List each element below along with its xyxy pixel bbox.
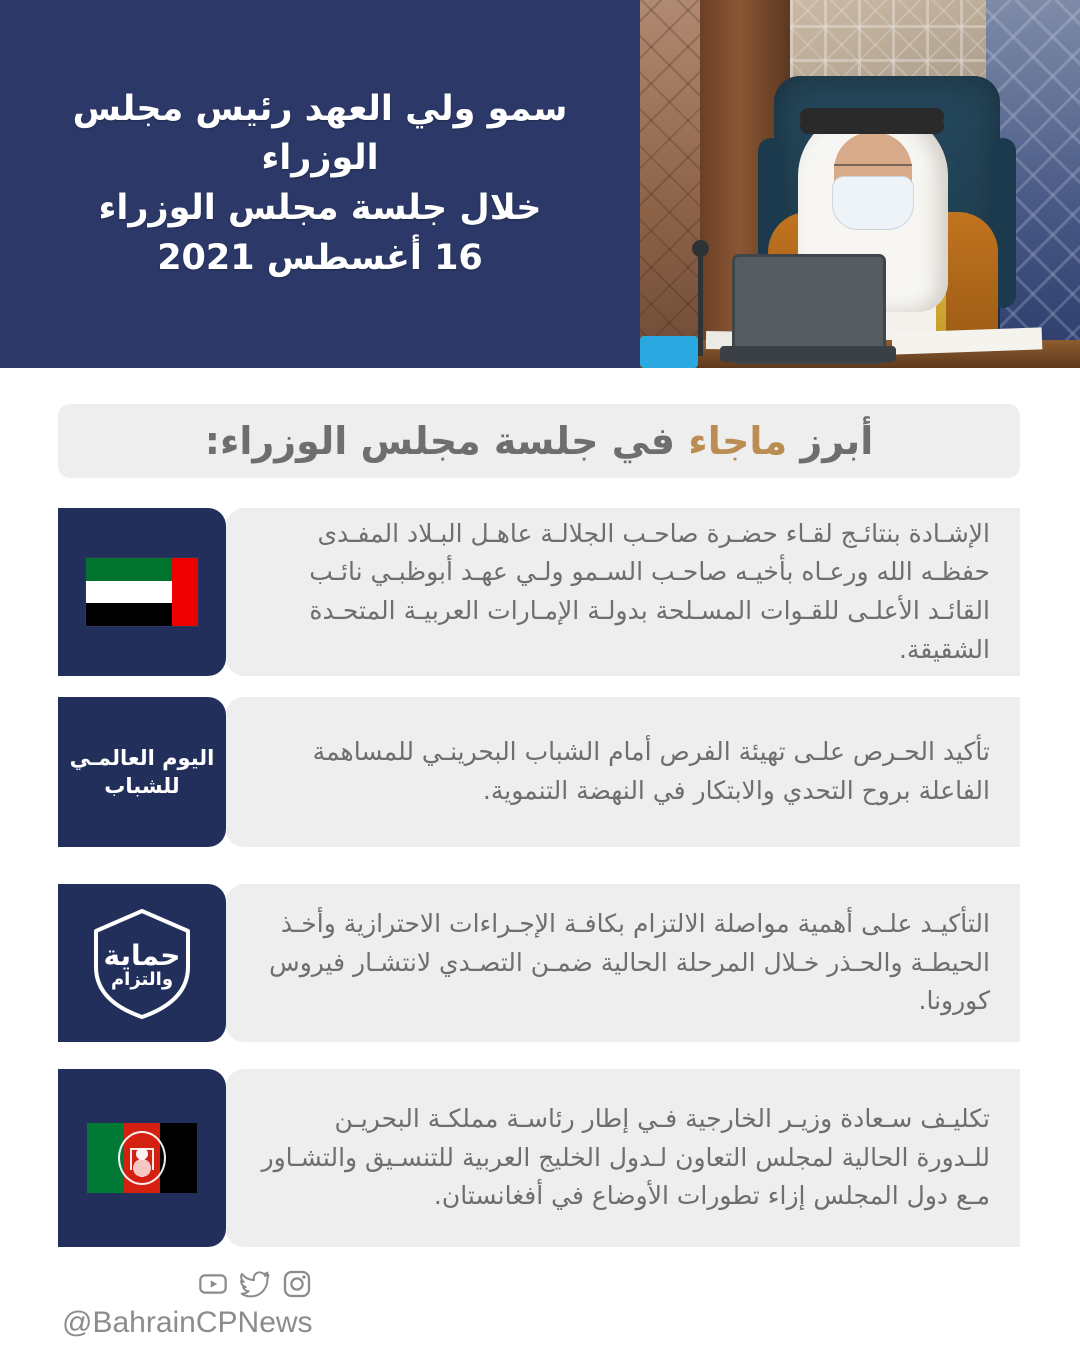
photo-agal xyxy=(800,108,944,125)
list-item: حماية والتزام التأكيـد علـى أهمية مواصلة… xyxy=(58,884,1020,1042)
card-icon-panel: اليوم العالمـي للشباب xyxy=(58,697,226,847)
header-banner: سمو ولي العهد رئيس مجلس الوزراء خلال جلس… xyxy=(0,0,1080,368)
card-icon-panel: حماية والتزام xyxy=(58,884,226,1042)
afghanistan-flag-icon xyxy=(87,1123,197,1193)
social-icons xyxy=(62,1268,313,1300)
uae-flag-white-band xyxy=(86,581,172,604)
shield-label-bottom: والتزام xyxy=(88,969,196,990)
card-body: تأكيد الحـرص علـى تهيئة الفرص أمام الشبا… xyxy=(226,697,1020,847)
section-heading-highlight: ماجاء xyxy=(688,419,787,463)
photo-blue-object xyxy=(640,336,698,368)
section-heading-prefix: أبرز xyxy=(787,419,873,463)
card-body: التأكيـد علـى أهمية مواصلة الالتزام بكاف… xyxy=(226,884,1020,1042)
instagram-icon[interactable] xyxy=(281,1268,313,1300)
card-text: التأكيـد علـى أهمية مواصلة الالتزام بكاف… xyxy=(254,905,990,1021)
shield-label-top: حماية xyxy=(88,939,196,972)
photo-tablet-base xyxy=(720,346,896,362)
list-item: اليوم العالمـي للشباب تأكيد الحـرص علـى … xyxy=(58,697,1020,847)
section-heading-suffix: في جلسة مجلس الوزراء: xyxy=(205,419,689,463)
section-heading-text: أبرز ماجاء في جلسة مجلس الوزراء: xyxy=(205,419,873,463)
header-title-date: 16 أغسطس 2021 xyxy=(26,234,614,284)
footer: @BahrainCPNews xyxy=(62,1268,313,1340)
protection-commitment-shield-icon: حماية والتزام xyxy=(88,905,196,1021)
photo-microphone xyxy=(698,250,703,356)
section-heading-bar: أبرز ماجاء في جلسة مجلس الوزراء: xyxy=(58,404,1020,478)
uae-flag-green-band xyxy=(86,558,172,581)
uae-flag-black-band xyxy=(86,603,172,626)
list-item: تكليـف سـعادة وزيـر الخارجية فـي إطار رئ… xyxy=(58,1069,1020,1247)
twitter-icon[interactable] xyxy=(239,1268,271,1300)
uae-flag-bands xyxy=(86,558,172,626)
list-item: الإشـادة بنتائـج لقـاء حضـرة صاحـب الجلا… xyxy=(58,508,1020,676)
header-title: سمو ولي العهد رئيس مجلس الوزراء خلال جلس… xyxy=(0,85,640,284)
header-title-line-2: خلال جلسة مجلس الوزراء xyxy=(26,184,614,234)
header-title-panel: سمو ولي العهد رئيس مجلس الوزراء خلال جلس… xyxy=(0,0,640,368)
crown-prince-photo xyxy=(640,0,1080,368)
photo-face-mask xyxy=(832,176,914,230)
header-title-line-1: سمو ولي العهد رئيس مجلس الوزراء xyxy=(26,85,614,184)
uae-flag-hoist xyxy=(172,558,198,626)
card-icon-panel xyxy=(58,508,226,676)
card-text: تكليـف سـعادة وزيـر الخارجية فـي إطار رئ… xyxy=(254,1100,990,1216)
social-handle[interactable]: @BahrainCPNews xyxy=(62,1306,313,1340)
card-body: الإشـادة بنتائـج لقـاء حضـرة صاحـب الجلا… xyxy=(226,508,1020,676)
afghanistan-flag-emblem xyxy=(118,1131,166,1185)
card-icon-panel xyxy=(58,1069,226,1247)
youtube-icon[interactable] xyxy=(197,1268,229,1300)
card-text: الإشـادة بنتائـج لقـاء حضـرة صاحـب الجلا… xyxy=(254,515,990,670)
card-text: تأكيد الحـرص علـى تهيئة الفرص أمام الشبا… xyxy=(254,733,990,811)
international-youth-day-icon: اليوم العالمـي للشباب xyxy=(58,744,226,801)
uae-flag-icon xyxy=(86,558,198,626)
card-body: تكليـف سـعادة وزيـر الخارجية فـي إطار رئ… xyxy=(226,1069,1020,1247)
